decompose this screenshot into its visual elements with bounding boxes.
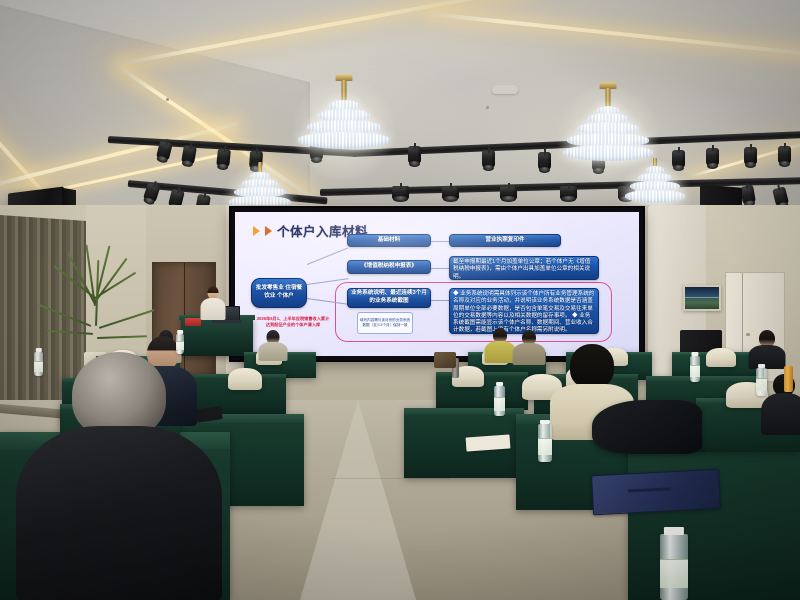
stage-spotlight bbox=[706, 148, 719, 166]
floor-seam bbox=[330, 478, 450, 479]
connector-line bbox=[431, 300, 449, 301]
connector-line bbox=[431, 268, 449, 269]
presenter bbox=[200, 286, 226, 320]
connector-line bbox=[431, 241, 449, 242]
chevron-right-icon bbox=[253, 226, 260, 236]
name-plate bbox=[185, 318, 201, 326]
water-bottle[interactable] bbox=[494, 386, 505, 416]
attendee bbox=[258, 330, 288, 360]
water-bottle[interactable] bbox=[176, 334, 184, 354]
landscape-painting-right bbox=[683, 285, 721, 311]
sprinkler-icon bbox=[486, 106, 489, 109]
water-bottle[interactable] bbox=[538, 424, 552, 462]
water-bottle-foreground[interactable] bbox=[660, 534, 688, 600]
water-bottle[interactable] bbox=[756, 368, 767, 396]
sprinkler-icon bbox=[166, 98, 169, 101]
slide-detail-3: ◆ 业务系统说明需具体列示该个体户所有业务管理系统的名称及对应的业务活动，并说明… bbox=[449, 288, 599, 334]
chair bbox=[228, 368, 262, 390]
stage-spotlight bbox=[442, 186, 459, 199]
stage-spotlight bbox=[500, 186, 517, 199]
stage-spotlight bbox=[408, 146, 421, 164]
connector-line bbox=[307, 248, 348, 265]
document-folder[interactable] bbox=[591, 469, 721, 516]
thermos-bottle[interactable] bbox=[784, 366, 793, 392]
presentation-slide: 个体户入库材料 批发零售业 住宿餐饮业 个体户 基础材料 《增值税纳税申报表》 … bbox=[235, 212, 639, 356]
chevron-right-icon bbox=[265, 226, 272, 236]
chair bbox=[706, 348, 736, 367]
stage-spotlight bbox=[482, 150, 495, 168]
stage-spotlight bbox=[392, 186, 409, 199]
projection-screen: 个体户入库材料 批发零售业 住宿餐饮业 个体户 基础材料 《增值税纳税申报表》 … bbox=[231, 208, 643, 360]
attendee bbox=[748, 330, 786, 368]
slide-node-branch-2: 《增值税纳税申报表》 bbox=[347, 260, 431, 274]
water-bottle[interactable] bbox=[690, 356, 700, 382]
stage-spotlight bbox=[560, 186, 577, 199]
table-foreground-right bbox=[628, 430, 800, 600]
stage-spotlight bbox=[538, 152, 551, 170]
slide-footnote: 2026年6月1、上半年应税销售收入累计达到起征产业的个体户请入库 bbox=[255, 316, 331, 328]
slide-detail-2: 截至申报期最近1个月加盖单位公章；若个体户无《增值税纳税申报表》，需由个体户出具… bbox=[449, 256, 599, 280]
chandelier-center bbox=[562, 82, 654, 158]
attendee-foreground-left bbox=[14, 352, 224, 600]
water-bottle[interactable] bbox=[34, 352, 43, 376]
chandelier-left bbox=[296, 74, 392, 152]
slide-node-branch-3: 业务系统说明、最近连续3个月的业务系统截图 bbox=[347, 288, 431, 308]
stage-spotlight bbox=[778, 146, 791, 164]
draped-coat bbox=[592, 400, 702, 454]
slide-note-box: 填列内容需与该月份的业务系统数据（至少3个月）保持一致 bbox=[357, 312, 413, 334]
ceiling-vent bbox=[492, 85, 518, 94]
slide-surface: 个体户入库材料 批发零售业 住宿餐饮业 个体户 基础材料 《增值税纳税申报表》 … bbox=[235, 212, 639, 356]
slide-node-branch-1: 基础材料 bbox=[347, 234, 431, 247]
slide-node-root: 批发零售业 住宿餐饮业 个体户 bbox=[251, 278, 307, 308]
stage-spotlight bbox=[744, 147, 757, 165]
conference-room-photo: 个体户入库材料 批发零售业 住宿餐饮业 个体户 基础材料 《增值税纳税申报表》 … bbox=[0, 0, 800, 600]
center-aisle bbox=[300, 400, 416, 600]
chandelier-right bbox=[624, 158, 686, 212]
slide-detail-1: 营业执照复印件 bbox=[449, 234, 561, 247]
handbag bbox=[434, 352, 456, 368]
attendee bbox=[512, 330, 546, 364]
